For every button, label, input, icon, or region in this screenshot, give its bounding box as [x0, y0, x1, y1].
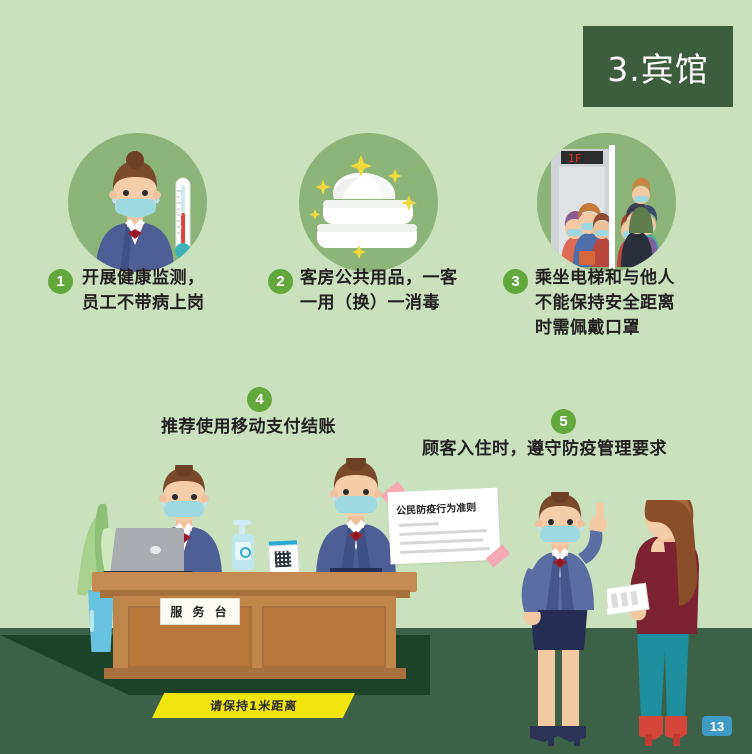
page-number-badge: 13 [702, 716, 732, 736]
service-desk-sign: 服 务 台 [160, 598, 240, 625]
clean-towels-svg [299, 133, 438, 272]
laptop-logo [150, 546, 161, 554]
floor-distance-marker: 请保持1米距离 [152, 693, 355, 718]
crowded-elevator-icon: 1F [537, 133, 676, 272]
bullet-number-2: 2 [268, 269, 293, 294]
bullet-number-3: 3 [503, 269, 528, 294]
bullet-number-5: 5 [551, 409, 576, 434]
reception-desk-base [104, 668, 406, 679]
section-title-banner: 3.宾馆 [583, 26, 733, 107]
service-desk-sign-text: 服 务 台 [170, 603, 229, 620]
qr-code-icon [275, 551, 292, 568]
reception-desk-top [92, 572, 417, 592]
bullet-number-1: 1 [48, 269, 73, 294]
bullet-caption-4: 推荐使用移动支付结账 [161, 415, 336, 440]
laptop-screen [110, 528, 184, 574]
staff-thermometer-icon [68, 133, 207, 272]
infographic-poster: 3.宾馆 [0, 0, 752, 754]
elevator-floor-text: 1F [568, 152, 581, 165]
page-title: 3.宾馆 [607, 43, 709, 91]
staff-thermometer-svg [68, 133, 207, 272]
sanitizer-symbol-icon [240, 547, 251, 558]
bullet-caption-2: 客房公共用品，一客 一用（换）一消毒 [300, 266, 458, 316]
vase-highlight [90, 610, 94, 632]
clean-towels-icon [299, 133, 438, 272]
poster-title: 公民防疫行为准则 [396, 499, 477, 517]
poster-line [399, 529, 487, 536]
desk-panel-right [262, 606, 386, 668]
standing-staff-member [500, 492, 620, 754]
bullet-caption-3: 乘坐电梯和与他人 不能保持安全距离 时需佩戴口罩 [535, 266, 675, 341]
floor-distance-text: 请保持1米距离 [209, 697, 298, 714]
bullet-caption-1: 开展健康监测， 员工不带病上岗 [82, 266, 205, 316]
bullet-number-4: 4 [247, 387, 272, 412]
poster-line [400, 538, 484, 545]
poster-line [399, 522, 439, 527]
poster-line [400, 547, 490, 554]
crowded-elevator-svg: 1F [537, 133, 676, 272]
prevention-guidelines-poster: 公民防疫行为准则 [387, 488, 500, 565]
